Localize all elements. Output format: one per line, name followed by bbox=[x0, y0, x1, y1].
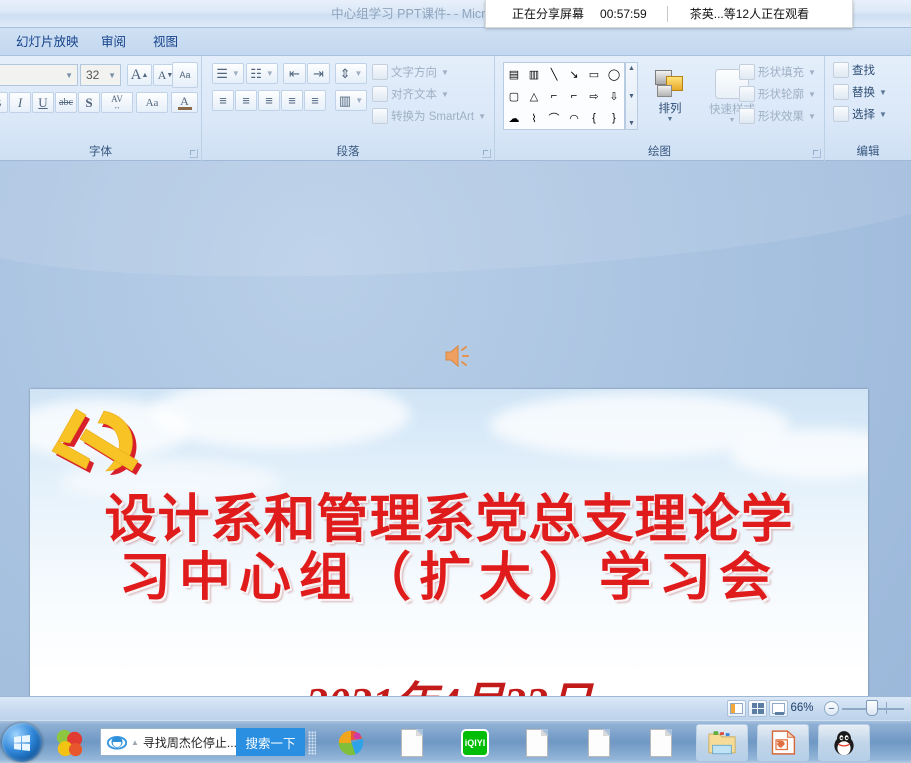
numbering-button[interactable]: ☷▼ bbox=[246, 63, 278, 84]
chevron-up-icon[interactable]: ▲ bbox=[131, 738, 139, 747]
font-color-button[interactable]: A bbox=[171, 92, 198, 113]
font-dialog-launcher[interactable] bbox=[189, 149, 198, 158]
shrink-font-label: A bbox=[158, 68, 167, 83]
start-button[interactable] bbox=[2, 723, 42, 762]
taskbar-button-file-explorer[interactable] bbox=[696, 724, 748, 761]
line-spacing-button[interactable]: ⇕▼ bbox=[335, 63, 367, 84]
shape-elbow-arrow-icon[interactable]: ⌐ bbox=[564, 85, 584, 107]
character-spacing-button[interactable]: AV ↔ bbox=[101, 92, 133, 113]
document-icon bbox=[588, 729, 610, 757]
shape-right-brace-icon[interactable]: } bbox=[604, 107, 624, 129]
slide-work-area: 设计系和管理系党总支理论学 习中心组（扩大）学习会 2021年4月22日 bbox=[0, 161, 911, 696]
powerpoint-icon bbox=[769, 729, 797, 756]
ribbon-group-paragraph: ☰▼ ☷▼ ⇤ ⇥ ⇕▼ ≡ ≡ ≡ ≡ ≡ ▥▼ 文字方向 ▼ 对齐文本 ▼ bbox=[202, 56, 495, 161]
font-size-value: 32 bbox=[86, 68, 99, 82]
binoculars-icon bbox=[833, 62, 849, 78]
ie-search-text: 寻找周杰伦停止... bbox=[143, 734, 237, 751]
align-text-button[interactable]: 对齐文本 ▼ bbox=[372, 86, 449, 102]
shape-down-arrow-icon[interactable]: ⇩ bbox=[604, 85, 624, 107]
chevron-down-icon: ▼ bbox=[478, 112, 486, 121]
normal-view-icon bbox=[730, 703, 743, 714]
justify-button[interactable]: ≡ bbox=[281, 90, 303, 111]
ribbon-group-font: ▼ 32 ▼ A▲ A▼ Aa B I U bbox=[0, 56, 202, 161]
shape-curve-icon[interactable]: ⌒ bbox=[544, 107, 564, 129]
paragraph-dialog-launcher[interactable] bbox=[482, 149, 491, 158]
shape-textbox-icon[interactable]: ▤ bbox=[504, 63, 524, 85]
zoom-slider-tick bbox=[886, 702, 887, 714]
tab-review[interactable]: 审阅 bbox=[93, 28, 134, 56]
chevron-down-icon: ▼ bbox=[808, 68, 816, 77]
group-title-editing: 编辑 bbox=[825, 143, 911, 159]
shape-outline-label: 形状轮廓 bbox=[758, 86, 804, 102]
chevron-down-icon: ▼ bbox=[808, 112, 816, 121]
italic-label: I bbox=[18, 95, 22, 111]
grow-font-label: A bbox=[131, 67, 142, 84]
cloud-decoration bbox=[150, 389, 410, 449]
scroll-up-icon[interactable]: ▲ bbox=[628, 65, 635, 72]
slide-canvas[interactable]: 设计系和管理系党总支理论学 习中心组（扩大）学习会 2021年4月22日 bbox=[30, 389, 868, 696]
shape-fill-button[interactable]: 形状填充 ▼ bbox=[739, 64, 816, 80]
font-name-combo[interactable]: ▼ bbox=[0, 64, 78, 86]
italic-button[interactable]: I bbox=[9, 92, 31, 113]
slide-title: 设计系和管理系党总支理论学 习中心组（扩大）学习会 bbox=[30, 491, 868, 607]
taskbar-icon-document-2[interactable] bbox=[520, 726, 554, 759]
work-area-sheen bbox=[0, 161, 911, 297]
font-size-combo[interactable]: 32 ▼ bbox=[80, 64, 121, 86]
slide-date: 2021年4月22日 bbox=[30, 667, 868, 696]
ribbon-group-drawing: ▤ ▥ ╲ ↘ ▭ ◯ ▢ △ ⌐ ⌐ ⇨ ⇩ ☁ ⌇ ⌒ ◠ { } ▲ bbox=[495, 56, 825, 161]
taskbar-icon-iqiyi[interactable]: iQIYI bbox=[458, 726, 492, 759]
taskbar-icon-document-4[interactable] bbox=[644, 726, 678, 759]
paint-bucket-icon bbox=[739, 64, 755, 80]
shape-cloud-icon[interactable]: ☁ bbox=[504, 107, 524, 129]
strikethrough-label: abc bbox=[59, 97, 73, 108]
text-shadow-button[interactable]: S bbox=[78, 92, 100, 113]
taskbar-grip-handle[interactable] bbox=[308, 731, 316, 755]
drawing-dialog-launcher[interactable] bbox=[812, 149, 821, 158]
shape-rectangle-icon[interactable]: ▭ bbox=[584, 63, 604, 85]
chevron-down-icon: ▼ bbox=[108, 71, 116, 80]
taskbar-icon-document-1[interactable] bbox=[395, 726, 429, 759]
text-direction-label: 文字方向 bbox=[391, 64, 437, 80]
zoom-out-button[interactable]: − bbox=[824, 701, 839, 716]
replace-button[interactable]: 替换 ▼ bbox=[833, 84, 887, 100]
share-timer: 00:57:59 bbox=[600, 7, 647, 21]
tab-view[interactable]: 视图 bbox=[145, 28, 186, 56]
flower-app-icon bbox=[54, 728, 84, 758]
character-spacing-label: AV bbox=[111, 95, 123, 103]
pencil-outline-icon bbox=[739, 86, 755, 102]
group-title-drawing: 绘图 bbox=[495, 143, 824, 159]
select-button[interactable]: 选择 ▼ bbox=[833, 106, 887, 122]
align-center-button[interactable]: ≡ bbox=[235, 90, 257, 111]
shape-left-brace-icon[interactable]: { bbox=[584, 107, 604, 129]
chevron-down-icon: ▼ bbox=[879, 88, 887, 97]
colorful-browser-icon bbox=[337, 729, 365, 757]
zoom-level-label: 66% bbox=[784, 700, 820, 717]
chevron-down-icon: ▼ bbox=[879, 110, 887, 119]
shape-vertical-textbox-icon[interactable]: ▥ bbox=[524, 63, 544, 85]
select-label: 选择 bbox=[852, 106, 875, 122]
chevron-down-icon: ▼ bbox=[441, 68, 449, 77]
underline-label: U bbox=[38, 95, 47, 111]
arrange-button[interactable]: 排列 ▼ bbox=[643, 60, 697, 132]
shape-ellipse-icon[interactable]: ◯ bbox=[604, 63, 624, 85]
taskbar-button-powerpoint[interactable] bbox=[757, 724, 809, 761]
change-case-label: Aa bbox=[146, 97, 159, 109]
shape-rounded-rect-icon[interactable]: ▢ bbox=[504, 85, 524, 107]
bullets-button[interactable]: ☰▼ bbox=[212, 63, 244, 84]
shape-fill-label: 形状填充 bbox=[758, 64, 804, 80]
zoom-slider-thumb[interactable] bbox=[866, 700, 878, 716]
decrease-indent-button[interactable]: ⇤ bbox=[283, 63, 306, 84]
group-title-paragraph: 段落 bbox=[202, 143, 494, 159]
windows-logo-icon bbox=[12, 733, 32, 753]
shape-arc-icon[interactable]: ◠ bbox=[564, 107, 584, 129]
text-shadow-label: S bbox=[85, 95, 92, 111]
find-label: 查找 bbox=[852, 62, 875, 78]
align-right-button[interactable]: ≡ bbox=[258, 90, 280, 111]
ribbon-group-editing: 查找 替换 ▼ 选择 ▼ 编辑 bbox=[825, 56, 911, 161]
taskbar-button-qq[interactable] bbox=[818, 724, 870, 761]
arrange-icon bbox=[655, 70, 685, 98]
shapes-more-icon[interactable]: ▼ bbox=[628, 120, 635, 127]
align-left-button[interactable]: ≡ bbox=[212, 90, 234, 111]
chevron-down-icon: ▼ bbox=[808, 90, 816, 99]
arrange-label: 排列 bbox=[659, 100, 682, 116]
find-button[interactable]: 查找 bbox=[833, 62, 875, 78]
shape-arrow-icon[interactable]: ↘ bbox=[564, 63, 584, 85]
chevron-down-icon: ▼ bbox=[667, 116, 674, 123]
align-text-label: 对齐文本 bbox=[391, 86, 437, 102]
status-bar: 66% − bbox=[0, 696, 911, 720]
view-slide-sorter-button[interactable] bbox=[748, 700, 767, 717]
screen-share-indicator-bar: 正在分享屏幕 00:57:59 茶英...等12人正在观看 bbox=[485, 0, 853, 28]
text-direction-icon bbox=[372, 64, 388, 80]
shapes-gallery-scrollbar[interactable]: ▲ ▼ ▼ bbox=[625, 62, 638, 130]
share-divider bbox=[667, 6, 668, 22]
document-icon bbox=[650, 729, 672, 757]
convert-to-smartart-button[interactable]: 转换为 SmartArt ▼ bbox=[372, 108, 486, 124]
shape-line-icon[interactable]: ╲ bbox=[544, 63, 564, 85]
document-icon bbox=[401, 729, 423, 757]
replace-label: 替换 bbox=[852, 84, 875, 100]
share-viewers-label: 茶英...等12人正在观看 bbox=[690, 5, 809, 22]
scroll-down-icon[interactable]: ▼ bbox=[628, 93, 635, 100]
slide-title-line-2: 习中心组（扩大）学习会 bbox=[30, 549, 868, 607]
clear-formatting-label: Aa bbox=[179, 70, 190, 80]
cpc-emblem-icon bbox=[46, 401, 154, 481]
clear-formatting-button[interactable]: Aa bbox=[172, 62, 198, 88]
strikethrough-button[interactable]: abc bbox=[55, 92, 77, 113]
share-status-label: 正在分享屏幕 bbox=[512, 5, 584, 22]
shape-outline-button[interactable]: 形状轮廓 ▼ bbox=[739, 86, 816, 102]
group-title-font: 字体 bbox=[0, 143, 201, 159]
increase-indent-button[interactable]: ⇥ bbox=[307, 63, 330, 84]
chevron-down-icon: ▼ bbox=[729, 117, 736, 124]
chevron-down-icon: ▼ bbox=[65, 71, 73, 80]
ribbon-tab-row: 幻灯片放映 审阅 视图 bbox=[0, 28, 911, 56]
change-case-button[interactable]: Aa bbox=[136, 92, 168, 113]
align-text-icon bbox=[372, 86, 388, 102]
shape-effects-button[interactable]: 形状效果 ▼ bbox=[739, 108, 816, 124]
chevron-down-icon: ▼ bbox=[441, 90, 449, 99]
shape-triangle-icon[interactable]: △ bbox=[524, 85, 544, 107]
shape-effects-label: 形状效果 bbox=[758, 108, 804, 124]
ribbon: ▼ 32 ▼ A▲ A▼ Aa B I U bbox=[0, 56, 911, 161]
slide-title-line-1: 设计系和管理系党总支理论学 bbox=[30, 491, 868, 549]
search-button[interactable]: 搜索一下 bbox=[236, 728, 305, 756]
columns-button[interactable]: ▥▼ bbox=[335, 90, 367, 111]
taskbar-icon-document-3[interactable] bbox=[582, 726, 616, 759]
bold-button[interactable]: B bbox=[0, 92, 8, 113]
effects-icon bbox=[739, 108, 755, 124]
text-direction-button[interactable]: 文字方向 ▼ bbox=[372, 64, 449, 80]
convert-smartart-label: 转换为 SmartArt bbox=[391, 108, 474, 124]
cursor-arrow-icon bbox=[833, 106, 849, 122]
qq-penguin-icon bbox=[830, 729, 858, 757]
file-explorer-icon bbox=[707, 729, 737, 756]
view-normal-button[interactable] bbox=[727, 700, 746, 717]
shape-freeform-icon[interactable]: ⌇ bbox=[524, 107, 544, 129]
shape-right-arrow-icon[interactable]: ⇨ bbox=[584, 85, 604, 107]
distribute-button[interactable]: ≡ bbox=[304, 90, 326, 111]
shapes-gallery[interactable]: ▤ ▥ ╲ ↘ ▭ ◯ ▢ △ ⌐ ⌐ ⇨ ⇩ ☁ ⌇ ⌒ ◠ { } bbox=[503, 62, 625, 130]
spacing-arrows-icon: ↔ bbox=[114, 103, 121, 111]
tab-slideshow[interactable]: 幻灯片放映 bbox=[8, 28, 87, 56]
document-icon bbox=[526, 729, 548, 757]
audio-speaker-icon[interactable] bbox=[443, 343, 471, 369]
bold-label: B bbox=[0, 95, 1, 111]
shape-elbow-connector-icon[interactable]: ⌐ bbox=[544, 85, 564, 107]
iqiyi-icon: iQIYI bbox=[461, 729, 489, 757]
smartart-icon bbox=[372, 108, 388, 124]
replace-icon bbox=[833, 84, 849, 100]
slide-sorter-icon bbox=[752, 703, 764, 714]
taskbar-icon-flower-app[interactable] bbox=[52, 726, 86, 759]
taskbar-icon-browser-app[interactable] bbox=[334, 726, 368, 759]
font-color-swatch bbox=[178, 107, 192, 110]
internet-explorer-icon bbox=[107, 732, 127, 752]
underline-button[interactable]: U bbox=[32, 92, 54, 113]
windows-taskbar: ▲ 寻找周杰伦停止... 搜索一下 iQIYI bbox=[0, 720, 911, 763]
grow-font-button[interactable]: A▲ bbox=[127, 64, 152, 86]
font-color-label: A bbox=[180, 96, 189, 107]
